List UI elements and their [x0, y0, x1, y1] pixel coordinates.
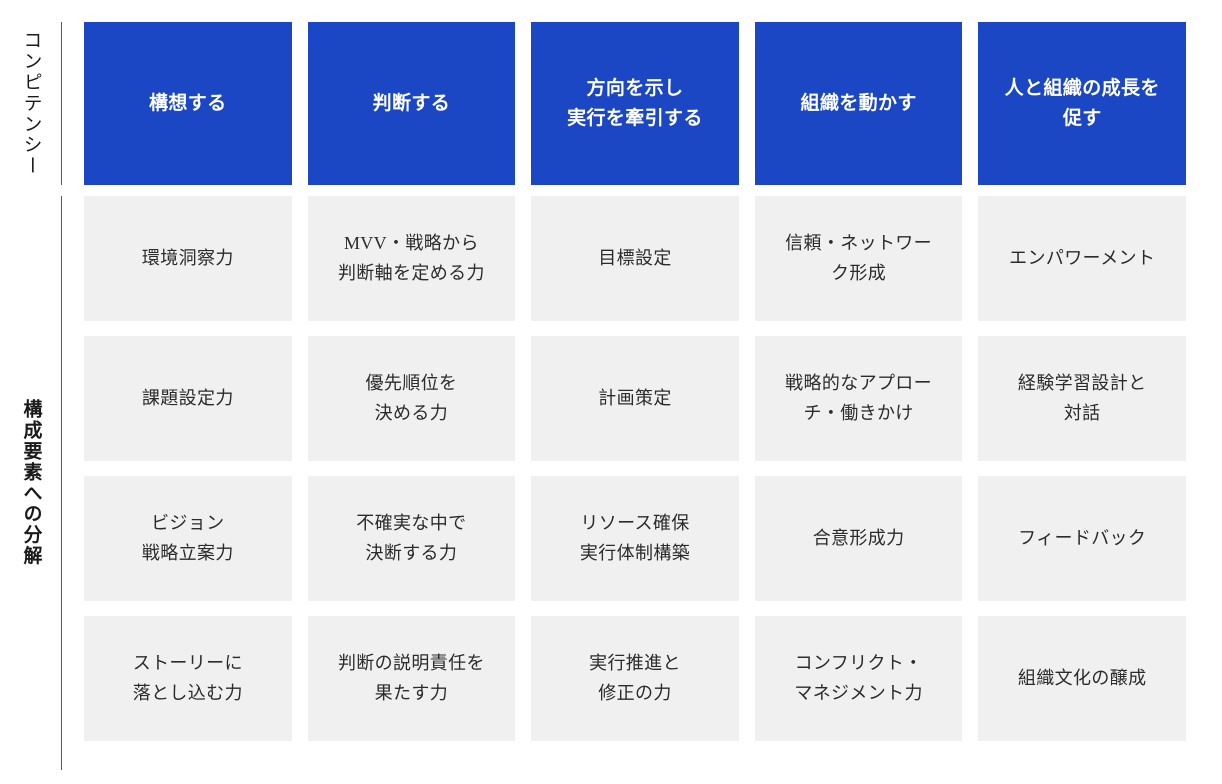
matrix-cell-label: 課題設定力	[142, 384, 234, 414]
matrix-cell-label: MVV・戦略から 判断軸を定める力	[338, 229, 485, 288]
matrix-cell-label: 目標設定	[598, 244, 671, 274]
matrix-cell-label: 環境洞察力	[142, 244, 234, 274]
column-header-label: 組織を動かす	[800, 89, 916, 118]
matrix-cell[interactable]: 経験学習設計と 対話	[978, 336, 1186, 461]
column-header-0[interactable]: 構想する	[84, 22, 292, 185]
matrix-cell-label: 合意形成力	[813, 524, 905, 554]
axis-label-column: コンピテンシー 構成要素への分解	[0, 0, 62, 784]
column-header-3[interactable]: 組織を動かす	[755, 22, 963, 185]
divider-body	[61, 196, 62, 770]
matrix-cell-label: 判断の説明責任を 果たす力	[338, 649, 485, 708]
matrix-cell[interactable]: 判断の説明責任を 果たす力	[308, 616, 516, 741]
axis-label-competency: コンピテンシー	[0, 22, 62, 185]
matrix-cell-label: エンパワーメント	[1009, 244, 1155, 274]
matrix-cell[interactable]: 計画策定	[531, 336, 739, 461]
matrix-cell-label: ストーリーに 落とし込む力	[133, 649, 243, 708]
divider-header	[61, 22, 62, 185]
matrix-cell[interactable]: 課題設定力	[84, 336, 292, 461]
matrix-cell[interactable]: ビジョン 戦略立案力	[84, 476, 292, 601]
column-header-label: 方向を示し 実行を牽引する	[567, 74, 703, 133]
column-header-label: 判断する	[373, 89, 451, 118]
axis-label-elements: 構成要素への分解	[0, 196, 62, 770]
matrix-cell-label: 戦略的なアプロー チ・働きかけ	[785, 369, 932, 428]
matrix-cell-label: 計画策定	[598, 384, 671, 414]
matrix-cell[interactable]: MVV・戦略から 判断軸を定める力	[308, 196, 516, 321]
matrix-cell[interactable]: 実行推進と 修正の力	[531, 616, 739, 741]
matrix-cell[interactable]: 組織文化の醸成	[978, 616, 1186, 741]
matrix-cell[interactable]: 合意形成力	[755, 476, 963, 601]
matrix-cell[interactable]: 不確実な中で 決断する力	[308, 476, 516, 601]
matrix-cell[interactable]: 環境洞察力	[84, 196, 292, 321]
matrix-cell[interactable]: リソース確保 実行体制構築	[531, 476, 739, 601]
column-header-1[interactable]: 判断する	[308, 22, 516, 185]
matrix-grid: 構想する 判断する 方向を示し 実行を牽引する 組織を動かす 人と組織の成長を …	[84, 22, 1186, 741]
matrix-cell[interactable]: フィードバック	[978, 476, 1186, 601]
matrix-cell[interactable]: 目標設定	[531, 196, 739, 321]
column-header-2[interactable]: 方向を示し 実行を牽引する	[531, 22, 739, 185]
matrix-cell-label: ビジョン 戦略立案力	[142, 509, 234, 568]
matrix-cell[interactable]: 優先順位を 決める力	[308, 336, 516, 461]
matrix-cell[interactable]: エンパワーメント	[978, 196, 1186, 321]
matrix-cell-label: 実行推進と 修正の力	[589, 649, 681, 708]
matrix-cell-label: フィードバック	[1018, 524, 1146, 554]
matrix-cell[interactable]: ストーリーに 落とし込む力	[84, 616, 292, 741]
matrix-cell[interactable]: 信頼・ネットワー ク形成	[755, 196, 963, 321]
matrix-cell-label: リソース確保 実行体制構築	[580, 509, 690, 568]
column-header-4[interactable]: 人と組織の成長を 促す	[978, 22, 1186, 185]
matrix-cell-label: 組織文化の醸成	[1018, 664, 1147, 694]
column-header-label: 人と組織の成長を 促す	[1005, 74, 1160, 133]
matrix-cell[interactable]: 戦略的なアプロー チ・働きかけ	[755, 336, 963, 461]
matrix-cell-label: 信頼・ネットワー ク形成	[785, 229, 932, 288]
matrix-cell-label: 不確実な中で 決断する力	[356, 509, 466, 568]
column-header-label: 構想する	[149, 89, 227, 118]
matrix-cell[interactable]: コンフリクト・ マネジメント力	[755, 616, 963, 741]
matrix-cell-label: 経験学習設計と 対話	[1018, 369, 1147, 428]
matrix-cell-label: 優先順位を 決める力	[365, 369, 457, 428]
competency-matrix: コンピテンシー 構成要素への分解 構想する 判断する 方向を示し 実行を牽引する…	[0, 0, 1222, 784]
matrix-cell-label: コンフリクト・ マネジメント力	[794, 649, 923, 708]
